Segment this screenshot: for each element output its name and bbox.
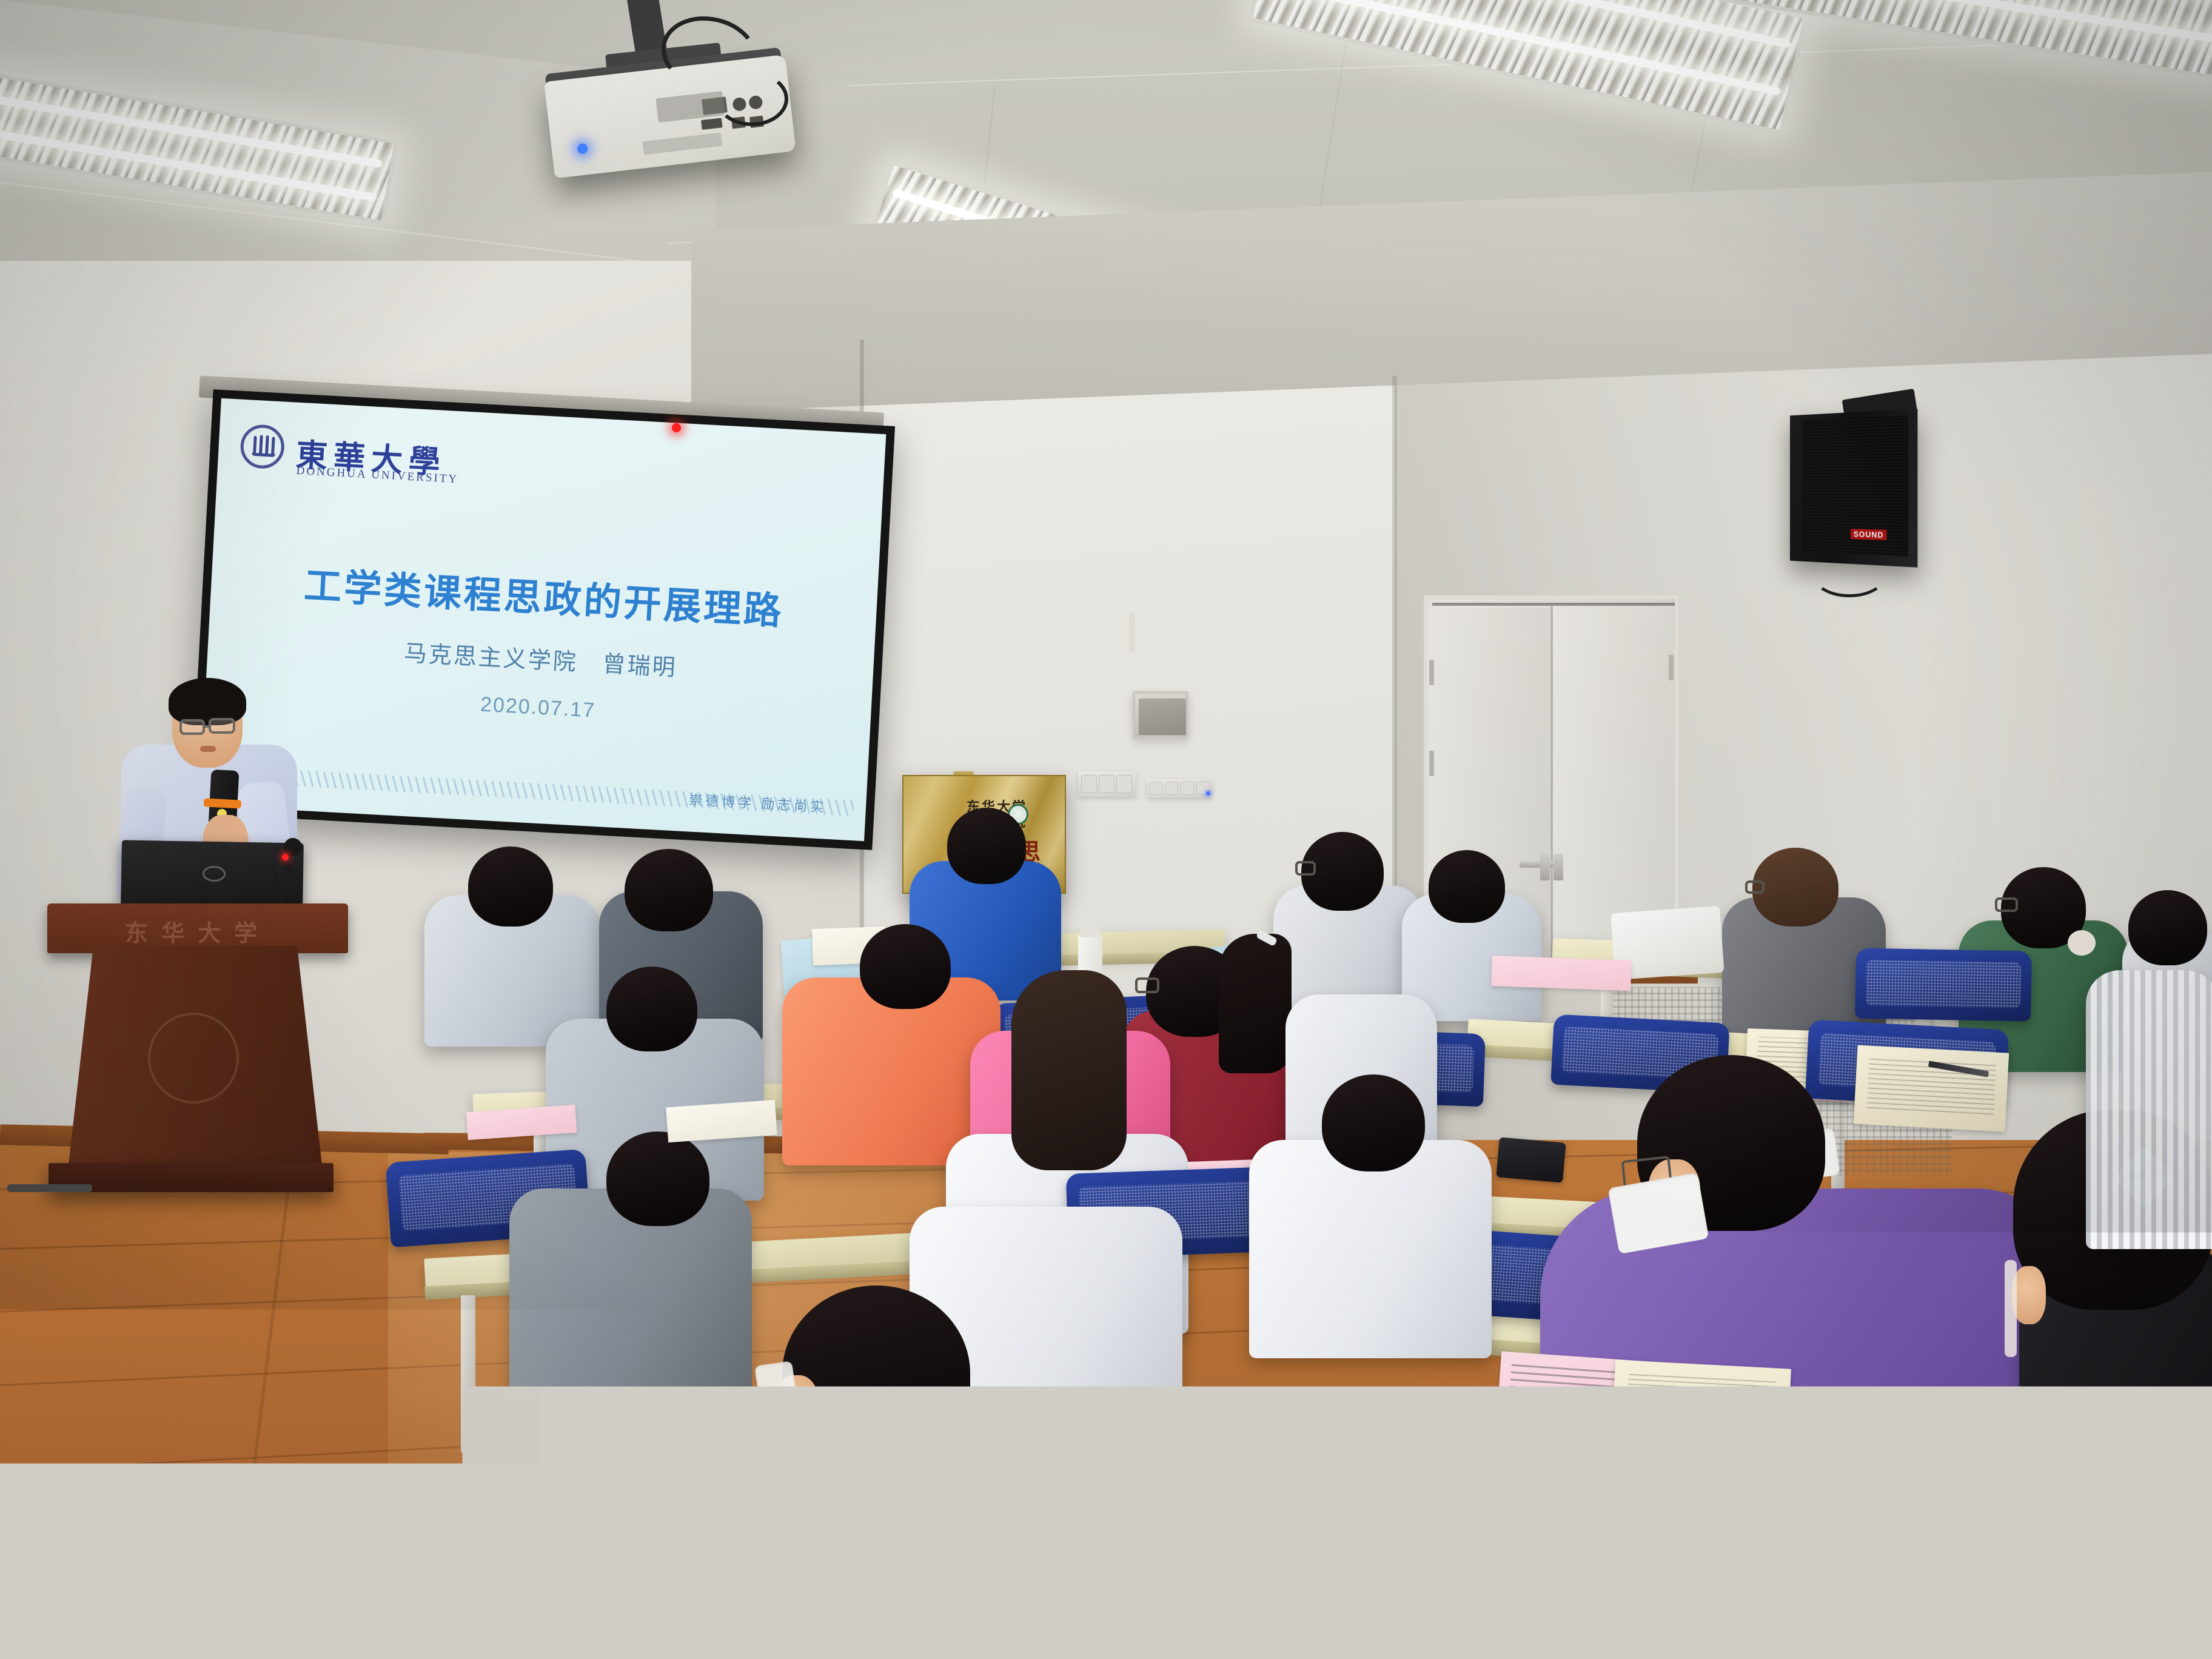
- pink-handout[interactable]: [1142, 1401, 1332, 1534]
- attendee-head: [468, 846, 553, 927]
- projector-cable: [716, 72, 788, 126]
- projected-slide: 東華大學 DONGHUA UNIVERSITY 工学类课程思政的开展理路 马克思…: [199, 398, 886, 841]
- attendee-ponytail: [1011, 970, 1127, 1170]
- door-top-reveal: [1432, 603, 1675, 606]
- university-logo-icon: [240, 424, 286, 470]
- bottle-cap: [1081, 927, 1100, 937]
- slide-motto: 崇德博学 励志尚实: [689, 789, 828, 816]
- light-switch-panel[interactable]: [1147, 779, 1212, 797]
- lectern-body: [68, 946, 323, 1170]
- smartphone[interactable]: [1496, 1137, 1566, 1182]
- door-hinge: [1429, 751, 1434, 776]
- attendee-arm: [1504, 1449, 1692, 1570]
- attendee-head: [606, 967, 697, 1051]
- smartphone[interactable]: [580, 1463, 676, 1527]
- attendee-head: [947, 808, 1026, 884]
- attendee-head: [606, 1131, 709, 1226]
- door-handle-plate[interactable]: [1540, 854, 1550, 880]
- gooseneck-mic-led: [282, 854, 289, 860]
- attendee-head: [2128, 890, 2207, 965]
- door-hinge: [1429, 660, 1434, 685]
- laptop-brand-badge: [203, 866, 226, 882]
- presenter-mouth: [200, 746, 216, 752]
- desk-leg: [461, 1295, 475, 1453]
- presenter-hair: [169, 678, 246, 725]
- presenter-glasses-bridge: [204, 725, 211, 728]
- speaker-cable: [1813, 555, 1886, 597]
- lectern-engraving: 东华大学: [47, 914, 348, 948]
- wall-conduit: [1129, 612, 1135, 652]
- attendee-torso: [1249, 1140, 1492, 1358]
- attendee-glasses: [1745, 880, 1765, 894]
- attendee-glasses: [1295, 861, 1316, 876]
- floor-cable: [7, 1184, 92, 1192]
- lectern-top: 东华大学: [47, 903, 348, 953]
- attendee-long-hair: [1219, 934, 1292, 1073]
- lectern-seal: [148, 1013, 239, 1104]
- light-switch-panel[interactable]: [1078, 771, 1136, 797]
- presenter-glasses-right: [209, 718, 235, 734]
- wall-control-box: [1133, 691, 1188, 739]
- classroom-chair[interactable]: [1855, 948, 2032, 1021]
- attendee-head: [625, 849, 713, 931]
- attendee-glasses: [1995, 897, 2018, 912]
- open-notebook[interactable]: [1854, 1045, 2009, 1132]
- attendee-torso: [2086, 970, 2212, 1249]
- classroom-lecture-photo: 東華大學 DONGHUA UNIVERSITY 工学类课程思政的开展理路 马克思…: [0, 0, 2212, 1659]
- door-handle-plate[interactable]: [1553, 854, 1563, 880]
- attendee-torso: [2019, 1249, 2212, 1659]
- wall-mounted-speaker: SOUND: [1790, 409, 1917, 568]
- door-gap: [1550, 606, 1553, 970]
- handout-text-lines: [1154, 1417, 1305, 1512]
- slide-title: 工学类课程思政的开展理路: [210, 549, 878, 640]
- attendee-head: [860, 924, 951, 1009]
- door-hinge: [1669, 655, 1674, 680]
- attendee-head: [1322, 1074, 1425, 1171]
- projector-power-led: [577, 143, 588, 155]
- attendee-ear: [2012, 1266, 2046, 1324]
- mask-ear-loop: [2005, 1260, 2017, 1357]
- laser-pointer-dot: [672, 423, 681, 432]
- attendee-glasses: [1135, 977, 1159, 993]
- attendee-head: [1429, 850, 1505, 923]
- presenter-glasses-left: [179, 719, 205, 735]
- hair-scrunchie: [2068, 930, 2096, 956]
- open-notebook[interactable]: [1610, 1360, 1791, 1466]
- speaker-brand-badge: SOUND: [1851, 529, 1886, 540]
- attendee-head: [1752, 848, 1838, 927]
- pink-handout[interactable]: [1491, 956, 1632, 991]
- attendee-head: [782, 1285, 970, 1461]
